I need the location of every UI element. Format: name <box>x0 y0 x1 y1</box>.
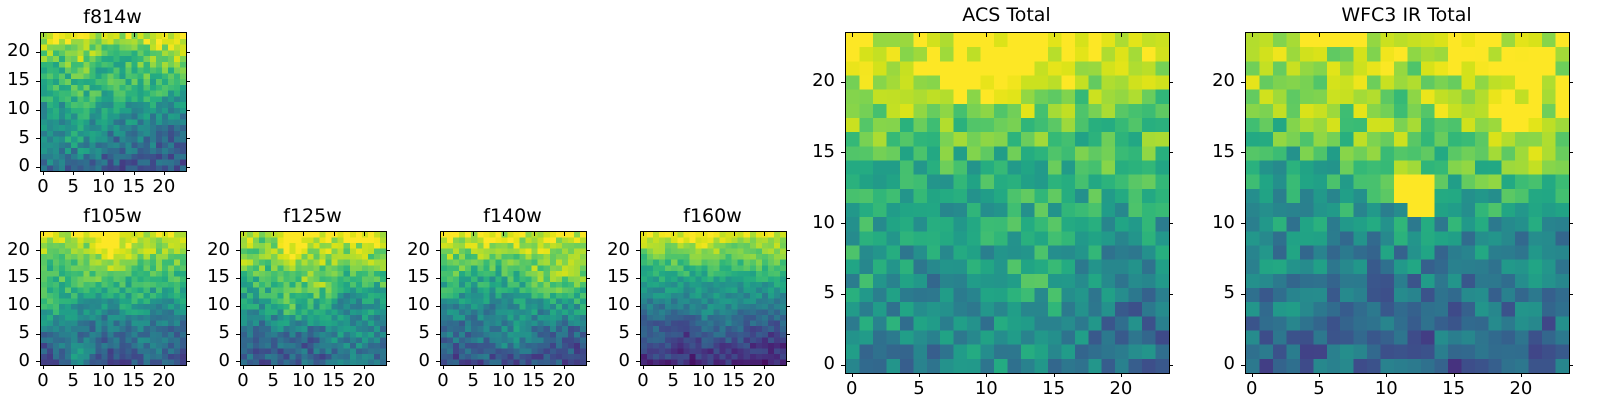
xtick-top-wfc3_ir_total-1 <box>1319 33 1320 37</box>
ytick-right-wfc3_ir_total-0 <box>1569 365 1573 366</box>
ytick-wfc3_ir_total-1 <box>1241 294 1245 295</box>
xtick-wfc3_ir_total-2 <box>1386 373 1387 377</box>
xtick-wfc3_ir_total-1 <box>1319 373 1320 377</box>
axes-wfc3_ir_total <box>1245 32 1570 374</box>
xtick-top-wfc3_ir_total-3 <box>1454 33 1455 37</box>
xticklabel-wfc3_ir_total-2: 10 <box>1356 380 1416 398</box>
ytick-right-wfc3_ir_total-3 <box>1569 152 1573 153</box>
xtick-top-wfc3_ir_total-0 <box>1252 33 1253 37</box>
ytick-right-wfc3_ir_total-4 <box>1569 82 1573 83</box>
xtick-wfc3_ir_total-3 <box>1454 373 1455 377</box>
figure-canvas: f814w0510152005101520f105w05101520051015… <box>0 0 1600 400</box>
xtick-top-wfc3_ir_total-4 <box>1521 33 1522 37</box>
ytick-right-wfc3_ir_total-2 <box>1569 223 1573 224</box>
yticklabel-wfc3_ir_total-0: 0 <box>1175 355 1235 373</box>
xticklabel-wfc3_ir_total-4: 20 <box>1491 380 1551 398</box>
yticklabel-wfc3_ir_total-2: 10 <box>1175 214 1235 232</box>
ytick-wfc3_ir_total-4 <box>1241 82 1245 83</box>
ytick-wfc3_ir_total-2 <box>1241 223 1245 224</box>
panel-wfc3_ir_total: WFC3 IR Total0510152005101520 <box>0 0 1600 400</box>
yticklabel-wfc3_ir_total-3: 15 <box>1175 143 1235 161</box>
xtick-wfc3_ir_total-4 <box>1521 373 1522 377</box>
panel-title-wfc3_ir_total: WFC3 IR Total <box>1245 6 1568 25</box>
ytick-right-wfc3_ir_total-1 <box>1569 294 1573 295</box>
ytick-wfc3_ir_total-3 <box>1241 152 1245 153</box>
heatmap-wfc3_ir_total <box>1246 33 1569 373</box>
xticklabel-wfc3_ir_total-3: 15 <box>1424 380 1484 398</box>
xticklabel-wfc3_ir_total-1: 5 <box>1289 380 1349 398</box>
xtick-top-wfc3_ir_total-2 <box>1386 33 1387 37</box>
yticklabel-wfc3_ir_total-4: 20 <box>1175 72 1235 90</box>
xtick-wfc3_ir_total-0 <box>1252 373 1253 377</box>
xticklabel-wfc3_ir_total-0: 0 <box>1222 380 1282 398</box>
ytick-wfc3_ir_total-0 <box>1241 365 1245 366</box>
yticklabel-wfc3_ir_total-1: 5 <box>1175 284 1235 302</box>
